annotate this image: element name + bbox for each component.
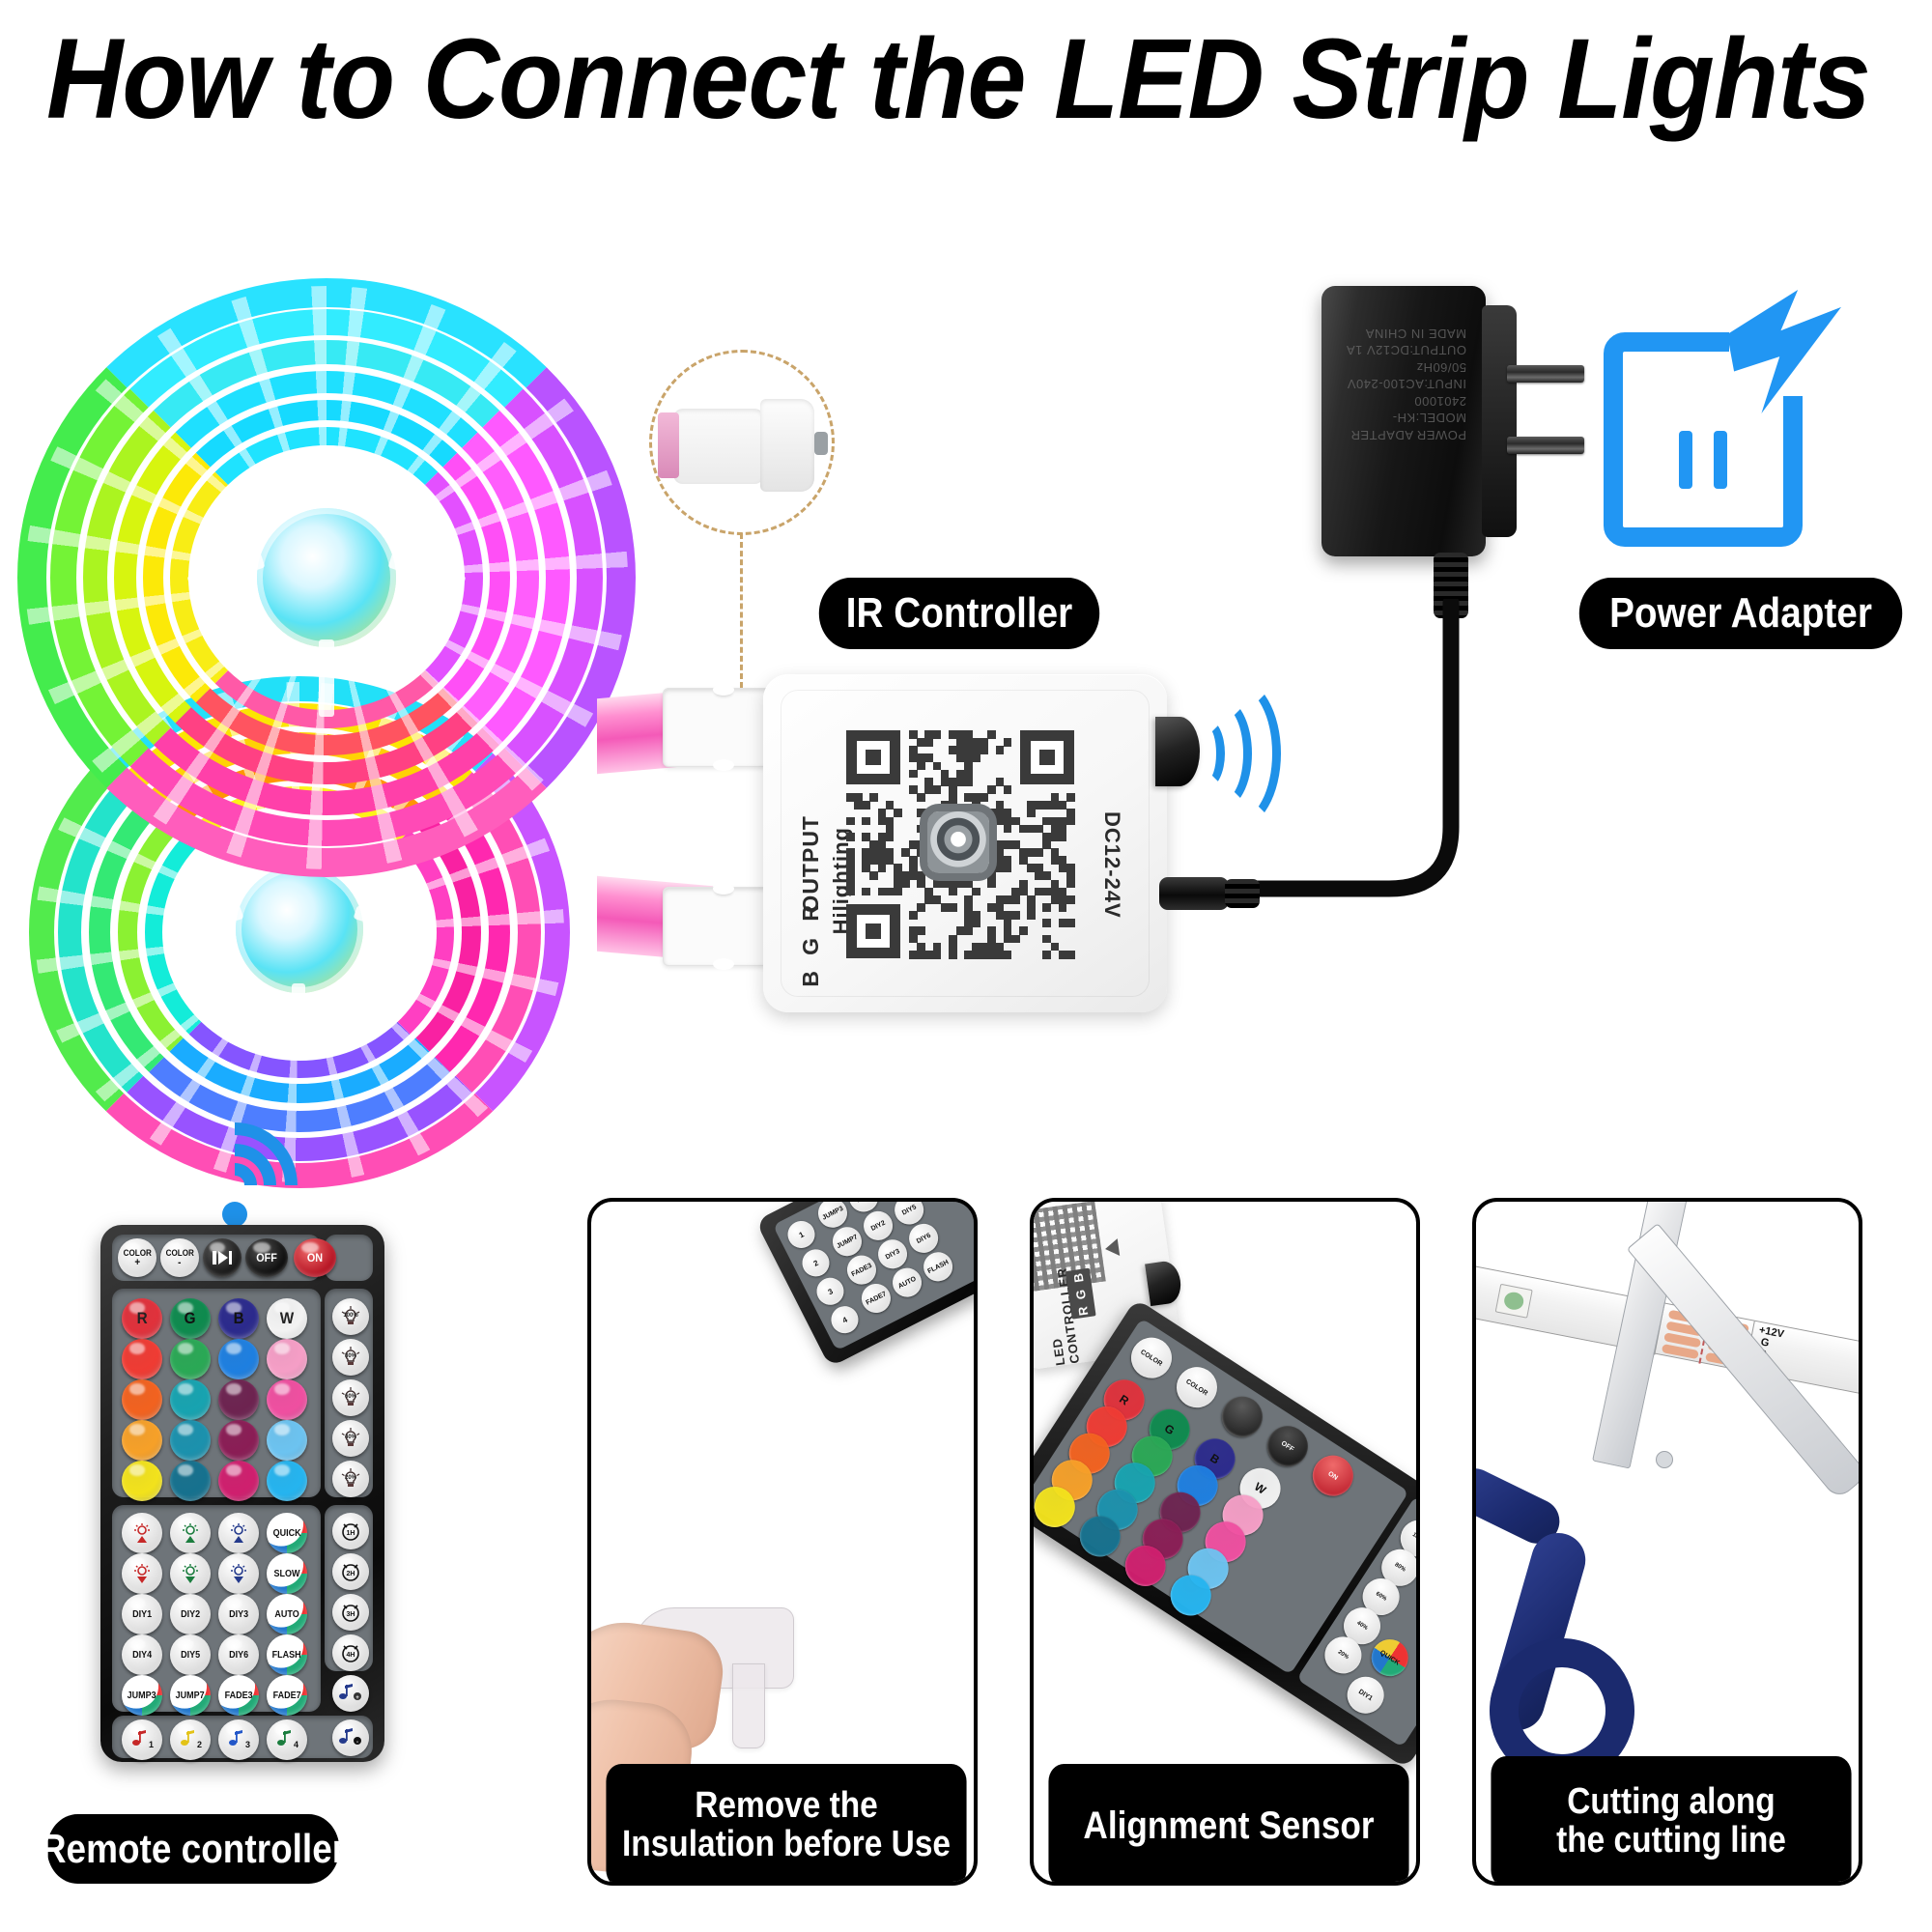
qr-module [1059,833,1067,841]
ir-controller-label: IR Controller [819,578,1099,649]
remote-music-button-4[interactable]: 4 [267,1719,307,1760]
reel-spoke [292,983,305,1053]
qr-module [949,951,957,959]
panel2-caption-line1: Remove the [695,1787,878,1826]
qr-module [980,793,988,802]
qr-module [917,926,925,935]
qr-module [924,738,933,747]
qr-eye [1020,730,1074,784]
reel-hub [236,866,363,993]
remote-color-button-r1c3[interactable] [267,1339,307,1379]
remote-color-button-r3c1[interactable] [170,1420,211,1461]
qr-module [894,888,902,896]
outlet-slot-left [1679,431,1692,489]
remote-button-auto[interactable]: AUTO [267,1594,307,1634]
remote-brightness-60[interactable]: 60% [332,1379,369,1416]
qr-module [1011,895,1020,904]
remote-color-button-r4c1[interactable] [170,1461,211,1501]
svg-text:3: 3 [245,1740,250,1749]
strip-connector-upper[interactable] [663,688,771,767]
remote-color-button-r3c3[interactable] [267,1420,307,1461]
remote-button-diy5[interactable]: DIY5 [170,1634,211,1675]
remote-button-play-pause[interactable] [203,1238,241,1277]
ir-controller-label-text: IR Controller [846,589,1072,638]
controller-channel-r: R [798,904,824,922]
remote-music-button-3[interactable]: 3 [218,1719,259,1760]
remote-button-diy4[interactable]: DIY4 [122,1634,162,1675]
qr-module [1042,903,1051,912]
qr-module [1011,935,1020,944]
qr-module [933,730,942,739]
dc-power-jack[interactable] [927,811,989,873]
qr-module [987,785,996,794]
adapter-print-text: POWER ADAPTER MODEL:KH-2401000 INPUT:AC1… [1345,325,1466,443]
qr-module [1059,903,1067,912]
connector-callout-circle [649,350,835,535]
remote-button-down-blue[interactable] [218,1553,259,1594]
remote-timer-4h[interactable]: 4H [332,1634,369,1671]
callout-clip-body [673,409,764,484]
qr-module [1042,919,1051,927]
remote-music-button-2[interactable]: 2 [170,1719,211,1760]
remote-button-jump3[interactable]: JUMP3 [122,1675,162,1716]
remote-color-button-r2c1[interactable] [170,1379,211,1420]
panel3-caption-text: Alignment Sensor [1083,1805,1374,1846]
remote-color-button-r1c2[interactable] [218,1339,259,1379]
qr-module [909,770,918,779]
qr-module [862,817,870,826]
qr-module [972,919,980,927]
scissors-pivot [1656,1451,1673,1468]
remote-color-button-r3c2[interactable] [218,1420,259,1461]
remote-color-button-r0c0[interactable]: R [122,1298,162,1339]
remote-button-diy6[interactable]: DIY6 [218,1634,259,1675]
remote-color-button-r0c1[interactable]: G [170,1298,211,1339]
qr-module [949,903,957,912]
qr-module [862,888,870,896]
remote-color-button-r1c0[interactable] [122,1339,162,1379]
remote-button-quick[interactable]: QUICK [267,1513,307,1553]
qr-module [980,746,988,754]
svg-text:4: 4 [294,1740,298,1749]
remote-button-fade7[interactable]: FADE7 [267,1675,307,1716]
outlet-slot-right [1714,431,1727,489]
callout-leader-line [740,533,743,688]
svg-text:4H: 4H [347,1652,355,1659]
qr-module [1066,880,1075,889]
qr-module [1027,809,1036,817]
qr-module [869,793,878,802]
qr-module [869,871,878,880]
dc-cable [1140,599,1468,918]
remote-button-color[interactable]: COLOR- [160,1238,199,1277]
qr-module [1066,919,1075,927]
qr-module [901,880,910,889]
remote-button-diy2[interactable]: DIY2 [170,1594,211,1634]
qr-module [894,809,902,817]
svg-text:40%: 40% [345,1435,357,1440]
qr-module [886,833,895,841]
svg-text:80%: 80% [345,1353,357,1359]
qr-module [917,762,925,771]
remote-button-jump7[interactable]: JUMP7 [170,1675,211,1716]
remote-color-button-r3c0[interactable] [122,1420,162,1461]
remote-button-fade3[interactable]: FADE3 [218,1675,259,1716]
svg-text:2H: 2H [347,1571,355,1577]
remote-color-button-r2c3[interactable] [267,1379,307,1420]
qr-eye [846,904,900,958]
adapter-prong-top [1507,365,1584,383]
power-outlet-icon [1604,307,1816,549]
callout-strip-edge [658,412,679,478]
remote-controller[interactable]: COLOR+COLOR-OFFONRGBW100%80%60%40%20%QUI… [100,1225,384,1762]
svg-text:3H: 3H [347,1611,355,1618]
qr-module [1042,951,1051,959]
remote-button-off[interactable]: OFF [245,1238,288,1277]
panel2-mini-remote: 1234JUMP3JUMP7FADE3FADE7DIY1DIY2DIY3AUTO… [755,1198,978,1367]
qr-module [972,753,980,762]
svg-text:1H: 1H [347,1530,355,1537]
remote-color-button-r4c0[interactable] [122,1461,162,1501]
panel4-caption: Cutting along the cutting line [1491,1756,1851,1886]
panel2-caption-line2: Insulation before Use [622,1826,951,1864]
remote-brightness-80[interactable]: 80% [332,1339,369,1376]
panel4-caption-line2: the cutting line [1556,1822,1786,1861]
power-adapter-label-text: Power Adapter [1609,589,1872,638]
remote-color-button-r4c2[interactable] [218,1461,259,1501]
svg-text:2: 2 [197,1740,202,1749]
qr-module [1066,895,1075,904]
panel-remove-insulation: 1234JUMP3JUMP7FADE3FADE7DIY1DIY2DIY3AUTO… [587,1198,978,1886]
remote-button-down-red[interactable] [122,1553,162,1594]
panel2-button-diy4: DIY4 [875,1198,914,1201]
page-title: How to Connect the LED Strip Lights [46,17,1780,143]
remote-button-color[interactable]: COLOR+ [118,1238,156,1277]
panel3-ir-receiver-bump [1145,1260,1183,1306]
qr-module [862,801,870,810]
remote-button-up-blue[interactable] [218,1513,259,1553]
remote-button-diy1[interactable]: DIY1 [122,1594,162,1634]
qr-module [1004,738,1012,747]
controller-output-label: OUTPUT [798,815,824,913]
remote-color-button-r0c2[interactable]: B [218,1298,259,1339]
qr-module [996,746,1005,754]
reel-hub [257,508,396,647]
qr-module [1004,864,1012,872]
qr-module [846,833,855,841]
panel3-caption: Alignment Sensor [1048,1764,1408,1886]
insulation-tab-stem [732,1663,765,1748]
qr-module [1004,785,1012,794]
sensor-card-arrow [1104,1238,1120,1258]
svg-text:20%: 20% [345,1475,357,1481]
qr-module [933,951,942,959]
power-adapter-label: Power Adapter [1579,578,1902,649]
qr-module [933,785,942,794]
adapter-print-line: MADE IN CHINA [1345,325,1466,342]
wifi-signal-icon [172,1122,307,1229]
qr-module [972,888,980,896]
qr-module [1066,793,1075,802]
led-reel-upper [17,278,636,877]
callout-clip-pin [814,432,828,455]
remote-button-down-green[interactable] [170,1553,211,1594]
controller-channel-b: B [798,970,824,987]
reel-spoke [319,639,334,717]
panel2-caption: Remove the Insulation before Use [606,1764,966,1886]
panel-alignment-sensor: LED CONTROLLER R G B COLORCOLOROFFONRGBW… [1030,1198,1420,1886]
remote-timer-3h[interactable]: 3H [332,1594,369,1631]
remote-sensitivity-down[interactable]: - [332,1719,369,1756]
qr-module [949,888,957,896]
remote-music-button-1[interactable]: 1 [122,1719,162,1760]
remote-button-diy3[interactable]: DIY3 [218,1594,259,1634]
power-adapter-side [1482,305,1517,537]
remote-color-button-r2c0[interactable] [122,1379,162,1420]
adapter-print-line: POWER ADAPTER [1345,426,1466,443]
qr-module [1035,848,1043,857]
adapter-print-line: OUTPUT:DC12V 1A [1345,342,1466,359]
ir-controller-box[interactable]: OUTPUT R G B Hilighting DC12-24V [763,674,1167,1012]
qr-module [909,911,918,920]
adapter-prong-bottom [1507,437,1584,454]
svg-text:1: 1 [149,1740,154,1749]
remote-color-button-r2c2[interactable] [218,1379,259,1420]
wifi-dot [222,1202,247,1227]
callout-clip-cap [760,399,814,492]
qr-module [846,888,855,896]
remote-brightness-20[interactable]: 20% [332,1461,369,1497]
qr-module [878,864,887,872]
remote-color-button-r0c3[interactable]: W [267,1298,307,1339]
remote-button-flash[interactable]: FLASH [267,1634,307,1675]
qr-module [964,926,973,935]
remote-button-slow[interactable]: SLOW [267,1553,307,1594]
qr-module [1004,825,1012,834]
panel3-mini-remote: COLORCOLOROFFONRGBW100%80%60%40%20%QUICK… [1030,1298,1420,1769]
svg-text:60%: 60% [345,1394,357,1400]
remote-button-up-red[interactable] [122,1513,162,1553]
remote-brightness-100[interactable]: 100% [332,1298,369,1335]
qr-module [917,903,925,912]
remote-brightness-40[interactable]: 40% [332,1420,369,1457]
qr-module [1027,911,1036,920]
remote-timer-2h[interactable]: 2H [332,1553,369,1590]
qr-module [964,778,973,786]
dc-barrel-plug[interactable] [1159,877,1229,910]
qr-module [987,880,996,889]
panel-cutting: +12V G R B +12V G R B Cutting along the … [1472,1198,1862,1886]
qr-eye [846,730,900,784]
svg-text:100%: 100% [343,1313,358,1319]
remote-controller-label-text: Remote controller [41,1826,346,1872]
panel4-caption-line1: Cutting along [1567,1783,1775,1822]
svg-text:+: + [355,1695,359,1701]
remote-timer-1h[interactable]: 1H [332,1513,369,1549]
remote-controller-label: Remote controller [47,1814,340,1884]
adapter-print-line: MODEL:KH-2401000 [1345,392,1466,426]
strip-connector-lower[interactable] [663,887,771,966]
qr-module [1066,951,1075,959]
remote-button-up-green[interactable] [170,1513,211,1553]
remote-button-on[interactable]: ON [294,1238,336,1277]
qr-module [987,730,996,739]
qr-module [846,817,855,826]
adapter-print-line: INPUT:AC100-240V 50/60Hz [1345,358,1466,392]
qr-module [1004,951,1012,959]
controller-voltage-label: DC12-24V [1099,811,1124,919]
qr-module [1011,911,1020,920]
qr-module [1019,926,1028,935]
qr-module [1066,817,1075,826]
remote-sensitivity-up[interactable]: + [332,1675,369,1712]
remote-color-button-r4c3[interactable] [267,1461,307,1501]
remote-color-button-r1c1[interactable] [170,1339,211,1379]
controller-channel-g: G [798,937,824,955]
qr-module [917,793,925,802]
svg-text:-: - [356,1740,358,1746]
dc-plug-strain [1225,879,1260,908]
